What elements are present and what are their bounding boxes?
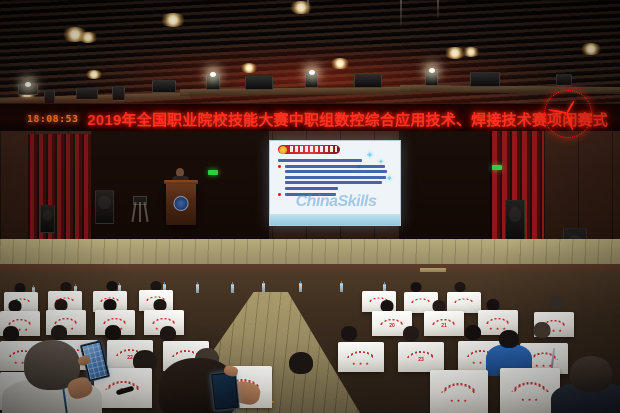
stage-light-fixture	[305, 72, 318, 88]
seat-cover-text	[507, 379, 554, 393]
water-bottle	[299, 283, 302, 292]
auditorium-photo: 18:08:53 2019年全国职业院校技能大赛中职组数控综合应用技术、焊接技术…	[0, 0, 620, 413]
slide-text-line	[285, 181, 382, 184]
slide-text-line	[285, 176, 386, 179]
slide-watermark: ChinaSkills	[276, 193, 396, 211]
seat-cover-text	[4, 317, 35, 325]
person-head	[3, 326, 19, 341]
person-head	[51, 325, 67, 340]
stage-light-fixture	[112, 86, 125, 101]
spotlight-glow	[160, 13, 186, 27]
seat-cover-text	[148, 316, 179, 324]
seat-cover-text	[50, 316, 81, 324]
person-head	[106, 281, 117, 291]
spotlight-glow	[462, 47, 480, 57]
audience-person	[530, 322, 554, 342]
hanging-rod	[437, 0, 439, 18]
seat-cover-text	[436, 380, 481, 393]
stage-light-fixture	[470, 72, 500, 87]
stage-light-fixture	[152, 80, 176, 93]
seat-cover: ★ ★ ★	[338, 342, 384, 372]
seat-cover: ★ ★ ★	[430, 370, 488, 413]
stage-loudspeaker	[505, 200, 525, 240]
stage-light-fixture	[354, 74, 382, 88]
person-head	[549, 296, 564, 309]
water-bottle	[196, 284, 199, 293]
seat-cover: 21	[424, 311, 464, 336]
audience-person	[286, 352, 316, 378]
person-head	[160, 326, 176, 341]
audience-person	[546, 296, 566, 313]
led-headline: 2019年全国职业院校技能大赛中职组数控综合应用技术、焊接技术赛项闭赛式	[87, 109, 608, 130]
slide-text-line	[285, 165, 385, 168]
exit-sign	[492, 165, 502, 170]
stage-light-fixture	[206, 74, 220, 90]
seat-cover	[447, 292, 481, 313]
led-wall-clock	[540, 88, 596, 140]
person-head	[289, 352, 313, 374]
seat-cover-text	[343, 349, 379, 358]
exit-sign	[208, 170, 218, 175]
seat-number: 23	[398, 358, 444, 363]
stage-curtain-left	[28, 134, 91, 252]
podium	[166, 183, 196, 225]
slide-text-line	[285, 170, 387, 173]
spotlight-glow	[240, 63, 258, 73]
spotlight-glow	[580, 43, 602, 55]
person-head	[570, 356, 612, 392]
stage-light-fixture	[425, 70, 438, 86]
projection-screen: ✦ ✦ ✦ ✦ ChinaSkills	[269, 140, 401, 226]
seat-cover-text	[482, 316, 513, 324]
seat-cover-stars: ★ ★ ★	[450, 398, 468, 403]
spotlight-glow	[330, 58, 350, 69]
spotlight-glow	[85, 70, 103, 79]
water-bottle	[231, 284, 234, 293]
stage-light-fixture	[76, 88, 98, 100]
podium-emblem-icon	[174, 196, 189, 211]
slide-text-line	[278, 159, 362, 162]
stage-light-fixture	[44, 90, 55, 104]
spotlight-glow	[78, 32, 98, 43]
podium-top	[164, 180, 198, 184]
slide-header-badge-icon	[279, 146, 287, 154]
person-head	[465, 325, 481, 340]
person-head	[499, 330, 519, 348]
seat-cover: 23	[398, 342, 444, 372]
stage-loudspeaker	[95, 190, 114, 224]
person-head	[454, 282, 465, 292]
stage-loudspeaker	[40, 205, 55, 233]
smartphone-center[interactable]	[210, 371, 240, 412]
seat-cover-stars: ★ ★ ★	[352, 361, 370, 366]
foreground-person-right	[556, 356, 620, 413]
person-head	[534, 322, 551, 338]
water-bottle	[340, 283, 343, 292]
person-head	[410, 282, 421, 292]
slide-body	[278, 159, 394, 196]
stage-light-fixture	[245, 76, 273, 90]
slide-header-bar	[278, 145, 340, 154]
person-head	[105, 325, 121, 340]
spotlight-glow	[289, 1, 313, 14]
stage-light-fixture	[18, 84, 38, 95]
slide-footer-strip	[270, 214, 400, 225]
seat-cover-stars: ★ ★ ★	[521, 397, 539, 402]
person-head	[341, 326, 357, 341]
slide-header-title-text	[290, 146, 337, 152]
stage-light-fixture	[556, 74, 572, 86]
phone-screen[interactable]	[212, 373, 237, 409]
stage-dark-recess	[399, 131, 494, 243]
water-bottle	[262, 283, 265, 292]
slide-text-line	[285, 187, 338, 190]
person-head	[403, 326, 419, 341]
led-timestamp: 18:08:53	[27, 114, 78, 125]
hanging-rod	[400, 0, 402, 26]
camera-tripod	[130, 196, 148, 222]
seat-cover-text	[451, 297, 478, 303]
slide-bullet-icon	[278, 165, 281, 168]
seat-cover-text	[99, 316, 130, 324]
seat-number: 21	[424, 324, 464, 329]
